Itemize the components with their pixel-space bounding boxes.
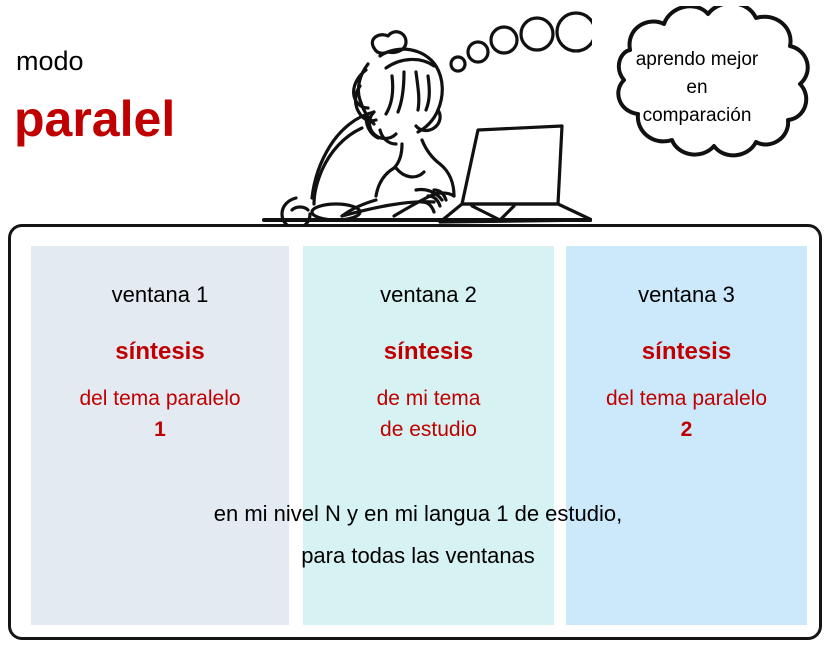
thought-bubble: aprendo mejor en comparación	[560, 6, 834, 186]
window-2-title: ventana 2	[303, 284, 554, 306]
thought-bubble-line-2: en	[592, 74, 802, 102]
thought-bubble-text: aprendo mejor en comparación	[592, 46, 802, 130]
windows-columns: ventana 1 síntesis del tema paralelo 1 v…	[11, 227, 819, 637]
window-column-1[interactable]: ventana 1 síntesis del tema paralelo 1	[31, 246, 289, 625]
window-2-desc-line-2: de estudio	[380, 418, 477, 441]
window-3-title: ventana 3	[566, 284, 807, 306]
page-title: paralel	[14, 94, 175, 144]
window-column-2[interactable]: ventana 2 síntesis de mi tema de estudio	[303, 246, 554, 625]
windows-panel: ventana 1 síntesis del tema paralelo 1 v…	[8, 224, 822, 640]
person-studying-at-laptop-illustration	[262, 4, 592, 224]
thought-bubble-line-3: comparación	[592, 102, 802, 130]
header-area: modo paralel	[0, 0, 834, 224]
window-column-3[interactable]: ventana 3 síntesis del tema paralelo 2	[566, 246, 807, 625]
window-1-synthesis-label: síntesis	[31, 340, 289, 364]
window-1-desc-line-1: del tema paralelo	[79, 387, 240, 410]
window-3-desc-line-1: del tema paralelo	[606, 387, 767, 410]
window-2-description: de mi tema de estudio	[303, 383, 554, 445]
window-3-desc-line-2: 2	[681, 418, 693, 441]
thought-bubble-line-1: aprendo mejor	[592, 46, 802, 74]
window-3-description: del tema paralelo 2	[566, 383, 807, 445]
illustration-svg	[262, 4, 592, 224]
window-1-title: ventana 1	[31, 284, 289, 306]
window-3-synthesis-label: síntesis	[566, 340, 807, 364]
window-1-description: del tema paralelo 1	[31, 383, 289, 445]
window-1-desc-line-2: 1	[154, 418, 166, 441]
window-2-desc-line-1: de mi tema	[377, 387, 481, 410]
window-2-synthesis-label: síntesis	[303, 340, 554, 364]
mode-label: modo	[16, 48, 84, 75]
